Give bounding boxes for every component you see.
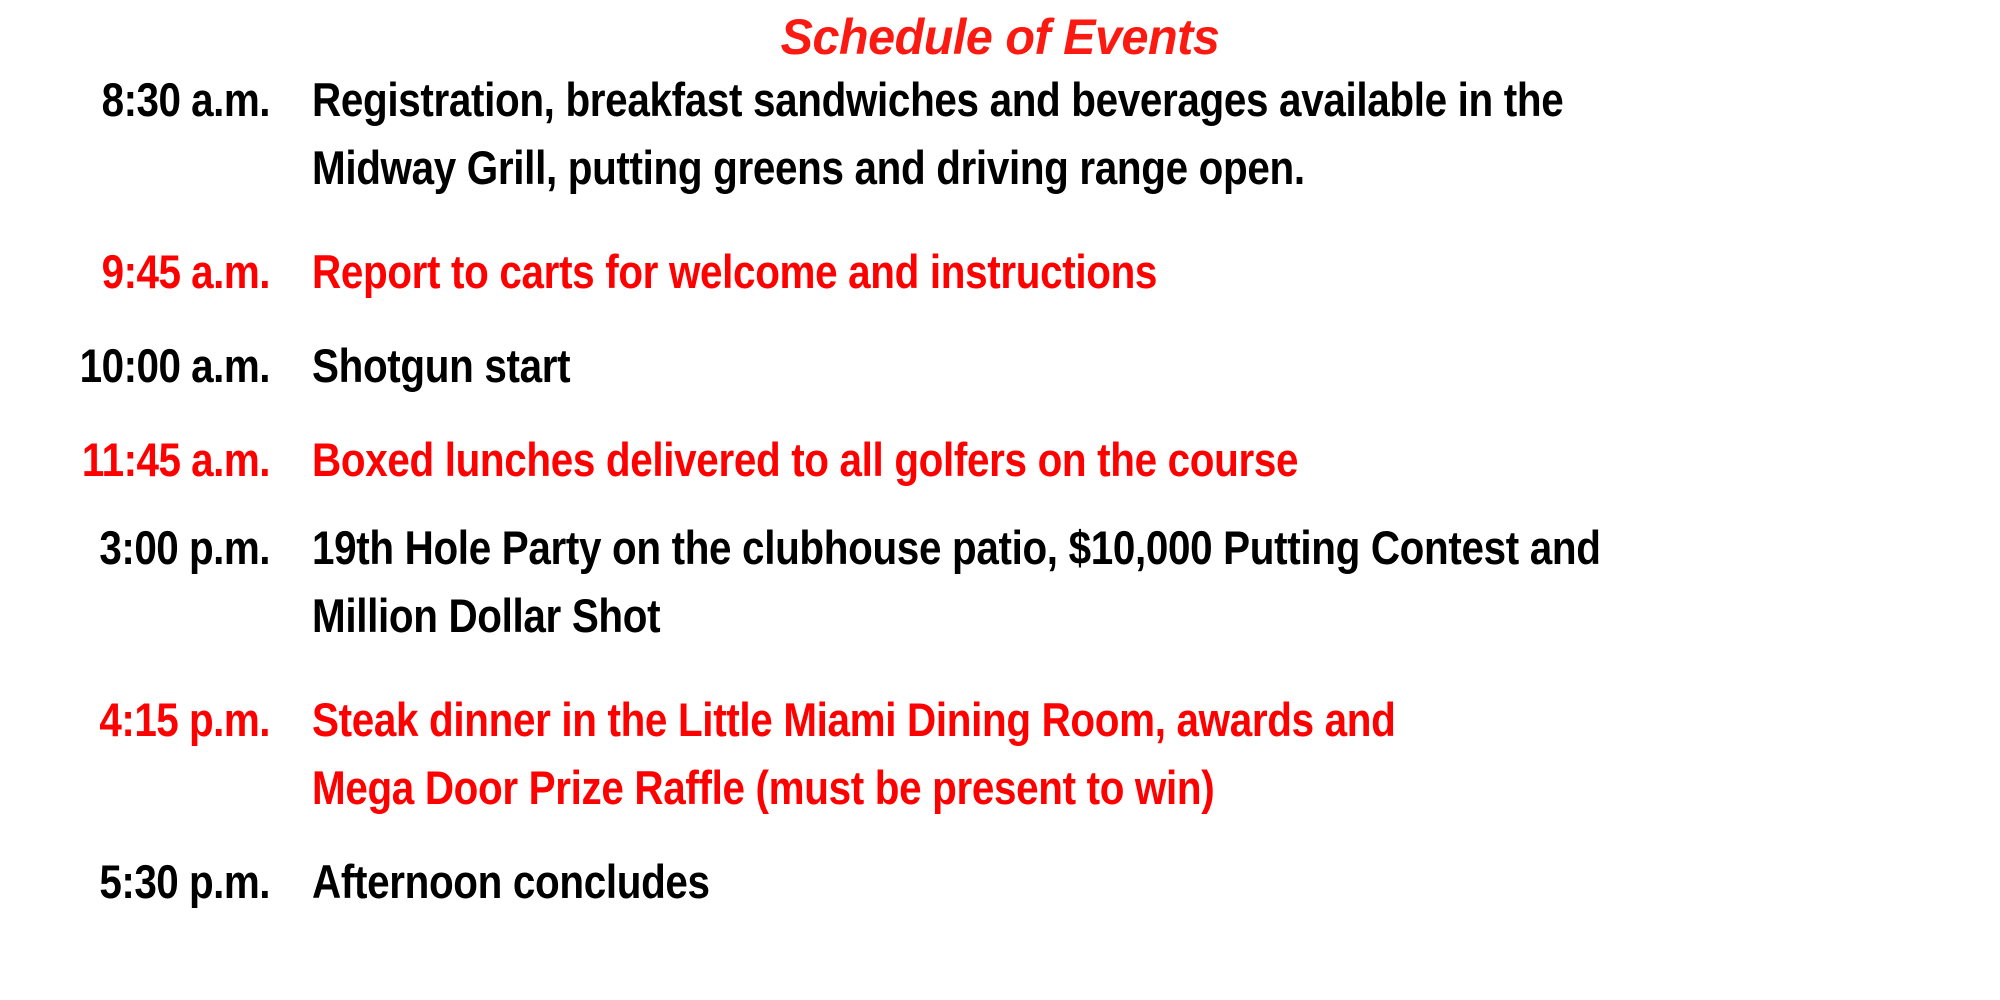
row-spacer <box>0 494 2000 514</box>
row-spacer <box>0 306 2000 332</box>
entry-time: 4:15 p.m. <box>38 686 270 754</box>
schedule-entry: 11:45 a.m. Boxed lunches delivered to al… <box>0 426 1900 494</box>
row-spacer <box>0 650 2000 686</box>
entry-description: 19th Hole Party on the clubhouse patio, … <box>312 514 1601 650</box>
entry-description-line: 19th Hole Party on the clubhouse patio, … <box>312 514 1601 582</box>
entry-time: 10:00 a.m. <box>38 332 270 400</box>
schedule-entry: 8:30 a.m. Registration, breakfast sandwi… <box>0 66 1900 202</box>
row-spacer <box>0 822 2000 848</box>
schedule-entry: 3:00 p.m. 19th Hole Party on the clubhou… <box>0 514 1900 650</box>
schedule-entry: 5:30 p.m. Afternoon concludes <box>0 848 1900 916</box>
entry-time: 8:30 a.m. <box>38 66 270 134</box>
schedule-entry: 10:00 a.m. Shotgun start <box>0 332 1900 400</box>
entry-description-line: Shotgun start <box>312 332 570 400</box>
schedule-entry: 4:15 p.m. Steak dinner in the Little Mia… <box>0 686 1900 822</box>
entry-description-line: Registration, breakfast sandwiches and b… <box>312 66 1563 134</box>
schedule-page: Schedule of Events 8:30 a.m. Registratio… <box>0 0 2000 1000</box>
schedule-entry: 9:45 a.m. Report to carts for welcome an… <box>0 238 1900 306</box>
entry-time: 11:45 a.m. <box>38 426 270 494</box>
entry-description: Boxed lunches delivered to all golfers o… <box>312 426 1298 494</box>
entry-description-line: Mega Door Prize Raffle (must be present … <box>312 754 1395 822</box>
page-title: Schedule of Events <box>30 8 1970 66</box>
entry-description: Registration, breakfast sandwiches and b… <box>312 66 1563 202</box>
entry-description-line: Steak dinner in the Little Miami Dining … <box>312 686 1395 754</box>
entry-time: 5:30 p.m. <box>38 848 270 916</box>
entry-description-line: Million Dollar Shot <box>312 582 1601 650</box>
entry-description-line: Boxed lunches delivered to all golfers o… <box>312 426 1298 494</box>
entry-description-line: Afternoon concludes <box>312 848 710 916</box>
entry-time: 3:00 p.m. <box>38 514 270 582</box>
entry-description-line: Report to carts for welcome and instruct… <box>312 238 1157 306</box>
entry-description: Shotgun start <box>312 332 570 400</box>
schedule-list: 8:30 a.m. Registration, breakfast sandwi… <box>0 66 2000 916</box>
entry-description: Report to carts for welcome and instruct… <box>312 238 1157 306</box>
entry-description: Steak dinner in the Little Miami Dining … <box>312 686 1395 822</box>
entry-description: Afternoon concludes <box>312 848 710 916</box>
entry-description-line: Midway Grill, putting greens and driving… <box>312 134 1563 202</box>
row-spacer <box>0 400 2000 426</box>
row-spacer <box>0 202 2000 238</box>
entry-time: 9:45 a.m. <box>38 238 270 306</box>
